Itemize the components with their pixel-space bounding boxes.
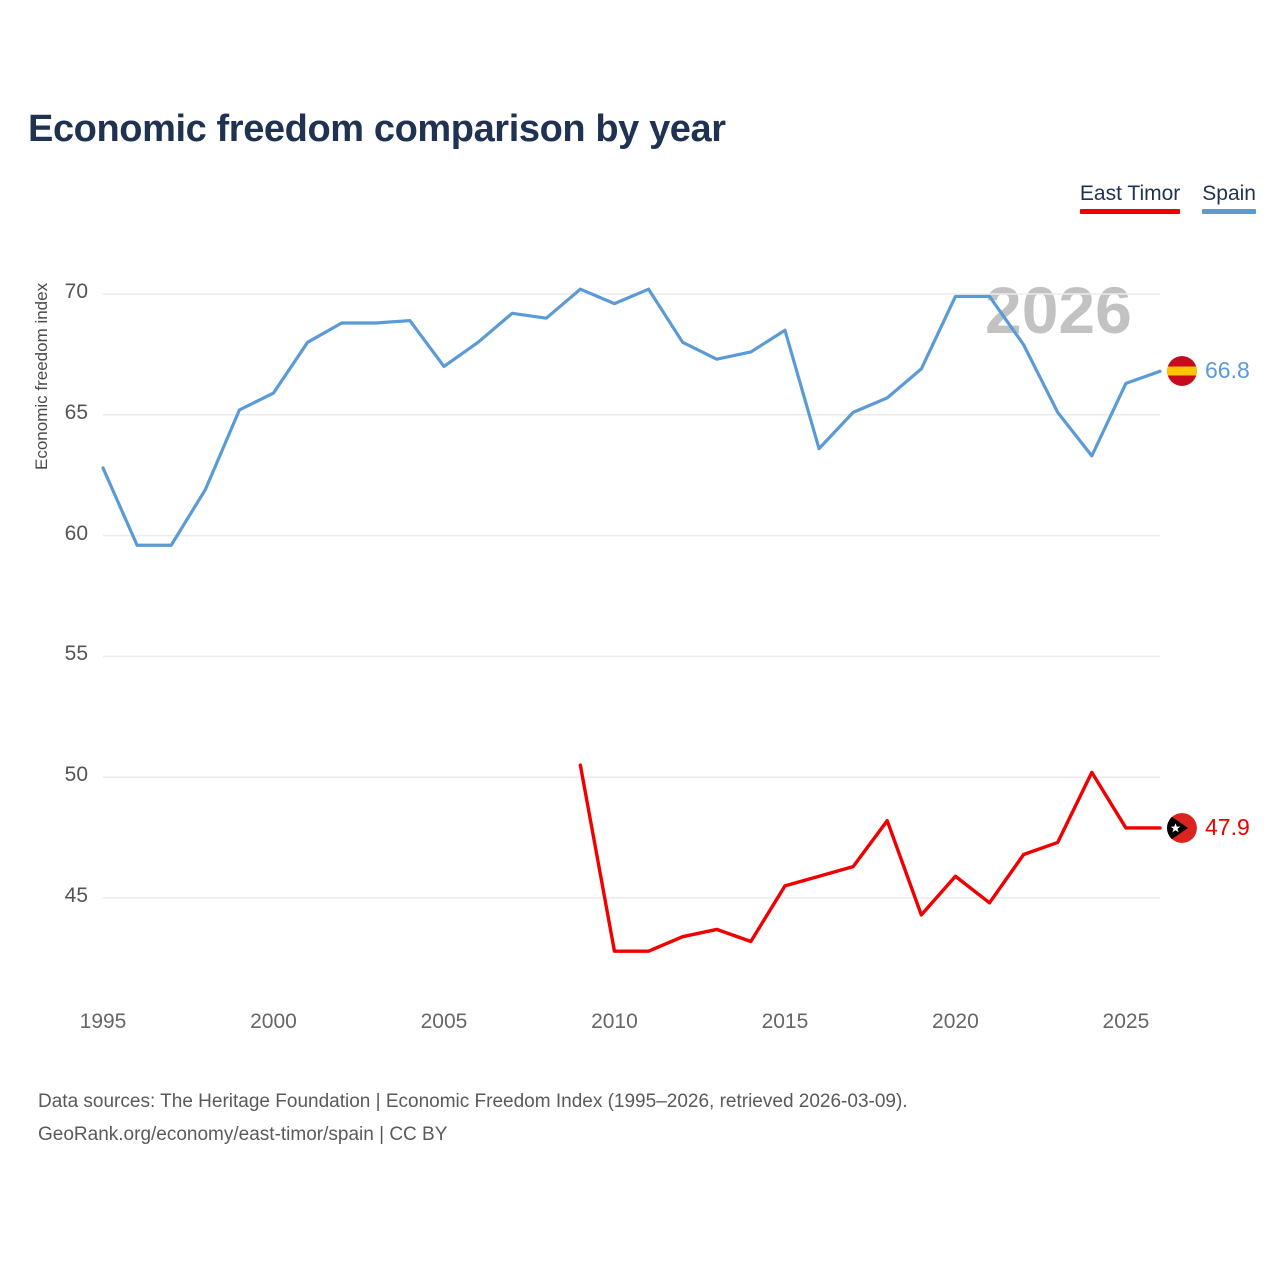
footer-sources: Data sources: The Heritage Foundation | … <box>38 1085 908 1152</box>
footer-line-2: GeoRank.org/economy/east-timor/spain | C… <box>38 1118 908 1151</box>
legend-label-east-timor: East Timor <box>1080 183 1180 205</box>
x-tick-label: 2015 <box>740 1010 830 1034</box>
x-tick-label: 2000 <box>228 1010 318 1034</box>
spain-flag-icon <box>1167 356 1197 386</box>
y-tick-label: 65 <box>28 401 88 425</box>
x-tick-label: 2020 <box>910 1010 1000 1034</box>
chart-legend: East Timor Spain <box>1080 183 1256 221</box>
legend-rule-spain <box>1202 209 1256 214</box>
legend-item-east-timor[interactable]: East Timor <box>1080 183 1180 221</box>
y-tick-label: 60 <box>28 522 88 546</box>
footer-line-1: Data sources: The Heritage Foundation | … <box>38 1085 908 1118</box>
x-tick-label: 2005 <box>399 1010 489 1034</box>
y-tick-label: 45 <box>28 884 88 908</box>
east-timor-flag-icon <box>1167 813 1197 843</box>
series-lines <box>103 289 1160 951</box>
page-title: Economic freedom comparison by year <box>28 108 726 151</box>
legend-rule-east-timor <box>1080 209 1180 214</box>
x-tick-label: 2010 <box>569 1010 659 1034</box>
series-line-east-timor <box>580 765 1160 951</box>
y-tick-label: 50 <box>28 763 88 787</box>
legend-item-spain[interactable]: Spain <box>1202 183 1256 221</box>
x-tick-label: 2025 <box>1081 1010 1171 1034</box>
x-tick-label: 1995 <box>58 1010 148 1034</box>
gridlines <box>103 294 1160 898</box>
spain-end-value: 66.8 <box>1205 357 1250 384</box>
y-tick-label: 70 <box>28 280 88 304</box>
year-watermark: 2026 <box>985 272 1132 348</box>
y-tick-label: 55 <box>28 642 88 666</box>
legend-label-spain: Spain <box>1202 183 1256 205</box>
east-timor-end-value: 47.9 <box>1205 814 1250 841</box>
y-axis-label: Economic freedom index <box>32 210 52 470</box>
